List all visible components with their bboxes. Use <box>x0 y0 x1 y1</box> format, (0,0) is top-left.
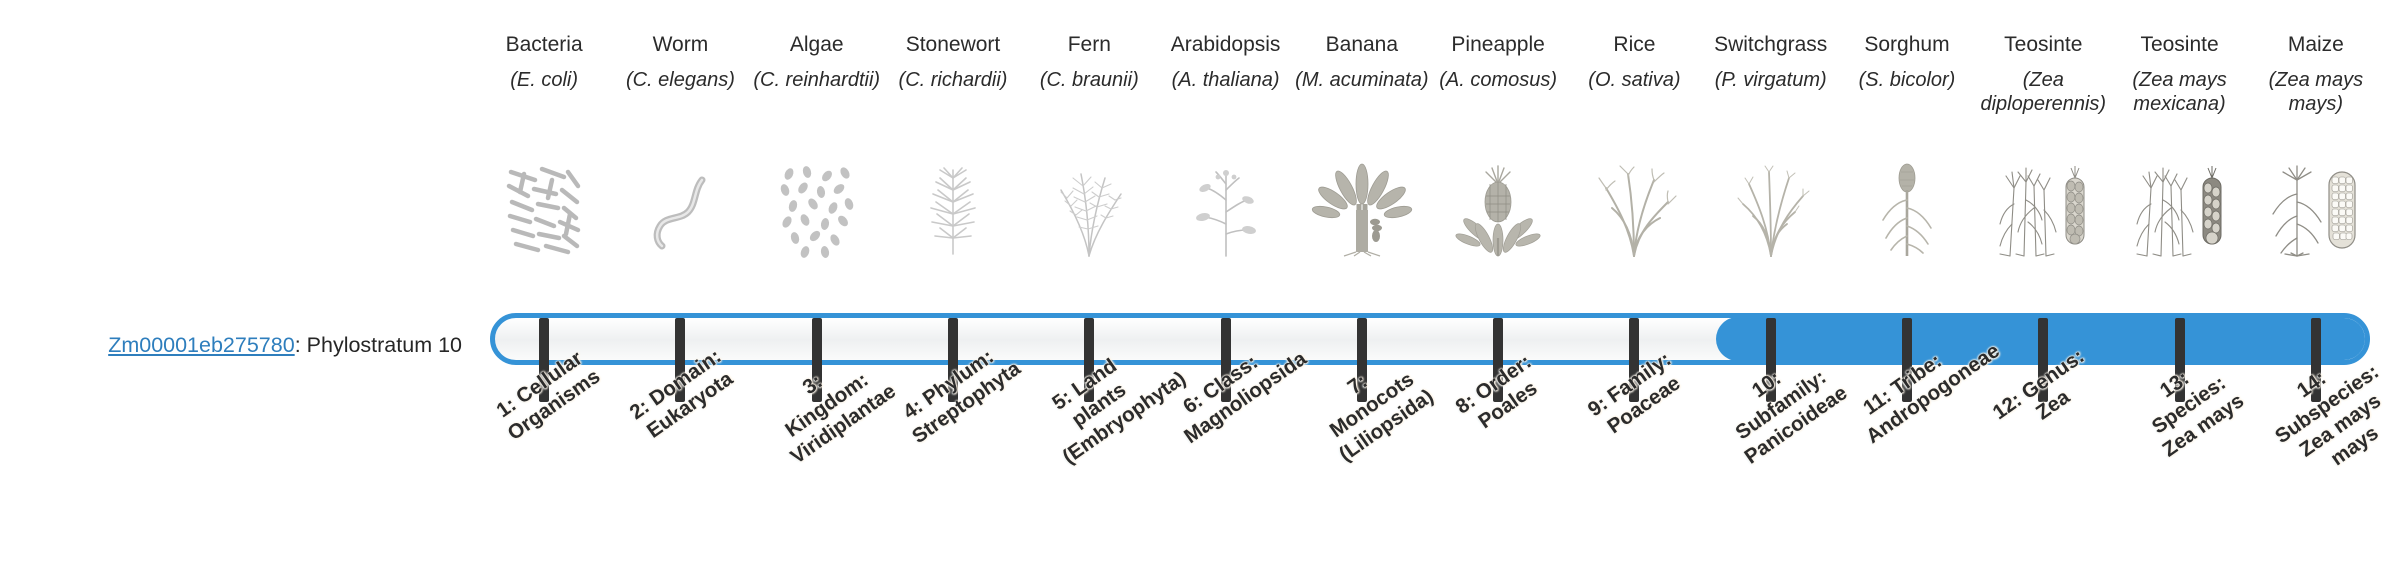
species-column-banana: Banana (M. acuminata) <box>1294 32 1430 116</box>
rank-cell-8: 8: Order: Poales <box>1430 404 1566 580</box>
species-common-name: Switchgrass <box>1714 32 1827 57</box>
species-scientific-name: (O. sativa) <box>1588 68 1680 92</box>
species-common-name: Bacteria <box>506 32 583 57</box>
species-column-switchgrass: Switchgrass (P. virgatum) <box>1703 32 1839 116</box>
rank-text: Subspecies: Zea mays mays <box>2271 360 2385 470</box>
fern-frond-illustration <box>1021 160 1157 256</box>
species-column-maize: Maize (Zea mays mays) <box>2248 32 2384 116</box>
species-common-name: Fern <box>1068 32 1111 57</box>
rank-cell-7: 7: Monocots (Liliopsida) <box>1294 404 1430 580</box>
rice-grass-illustration <box>1566 160 1702 256</box>
species-column-arabidopsis: Arabidopsis (A. thaliana) <box>1157 32 1293 116</box>
rank-cell-2: 2: Domain: Eukaryota <box>612 404 748 580</box>
species-scientific-name: (A. thaliana) <box>1172 68 1280 92</box>
rank-cell-1: 1: Cellular Organisms <box>476 404 612 580</box>
species-column-stonewort: Stonewort (C. richardii) <box>885 32 1021 116</box>
pineapple-plant-illustration <box>1430 160 1566 256</box>
rank-cell-13: 13: Species: Zea mays <box>2111 404 2247 580</box>
species-column-teosinte-diploperennis: Teosinte (Zea diploperennis) <box>1975 32 2111 116</box>
phylostratigraphy-figure: Zm00001eb275780: Phylostratum 10 Bacteri… <box>0 0 2400 580</box>
species-scientific-name: (S. bicolor) <box>1859 68 1956 92</box>
species-scientific-name: (Zea mays mays) <box>2249 68 2383 116</box>
species-scientific-name: (C. braunii) <box>1040 68 1139 92</box>
maize-plant-and-cob-illustration <box>2248 160 2384 256</box>
species-common-name: Arabidopsis <box>1171 32 1281 57</box>
species-common-name: Sorghum <box>1864 32 1949 57</box>
species-column-teosinte-mexicana: Teosinte (Zea mays mexicana) <box>2111 32 2247 116</box>
species-column-bacteria: Bacteria (E. coli) <box>476 32 612 116</box>
species-column-algae: Algae (C. reinhardtii) <box>749 32 885 116</box>
taxonomy-rank-row: 1: Cellular Organisms 2: Domain: Eukaryo… <box>476 404 2384 580</box>
rank-cell-10: 10: Subfamily: Panicoideae <box>1703 404 1839 580</box>
rank-cell-5: 5: Land plants (Embryophyta) <box>1021 404 1157 580</box>
sorghum-illustration <box>1839 160 1975 256</box>
species-common-name: Teosinte <box>2140 32 2218 57</box>
rank-cell-6: 6: Class: Magnoliopsida <box>1157 404 1293 580</box>
stonewort-alga-illustration <box>885 160 1021 256</box>
species-scientific-name: (M. acuminata) <box>1295 68 1428 92</box>
species-scientific-name: (C. richardii) <box>899 68 1008 92</box>
arabidopsis-plant-illustration <box>1157 160 1293 256</box>
species-scientific-name: (P. virgatum) <box>1715 68 1827 92</box>
species-common-name: Teosinte <box>2004 32 2082 57</box>
species-scientific-name: (C. elegans) <box>626 68 735 92</box>
species-column-fern: Fern (C. braunii) <box>1021 32 1157 116</box>
bacteria-rods-illustration <box>476 160 612 256</box>
gene-label-separator: : <box>295 333 307 357</box>
species-scientific-name: (Zea diploperennis) <box>1976 68 2110 116</box>
species-scientific-name: (E. coli) <box>510 68 578 92</box>
rank-cell-9: 9: Family: Poaceae <box>1566 404 1702 580</box>
species-scientific-name: (Zea mays mexicana) <box>2112 68 2246 116</box>
nematode-worm-illustration <box>612 160 748 256</box>
species-common-name: Pineapple <box>1451 32 1544 57</box>
rank-cell-11: 11: Tribe: Andropogoneae <box>1839 404 1975 580</box>
species-header-row: Bacteria (E. coli) Worm (C. elegans) Alg… <box>476 32 2384 116</box>
species-common-name: Stonewort <box>906 32 1001 57</box>
phylostratum-value: Phylostratum 10 <box>307 333 462 357</box>
rank-text: Monocots (Liliopsida) <box>1325 368 1437 466</box>
phylostratum-track-area: Bacteria (E. coli) Worm (C. elegans) Alg… <box>476 0 2384 580</box>
rank-cell-12: 12: Genus: Zea <box>1975 404 2111 580</box>
species-column-worm: Worm (C. elegans) <box>612 32 748 116</box>
species-common-name: Banana <box>1326 32 1398 57</box>
species-illustration-row <box>476 160 2384 256</box>
rank-cell-14: 14: Subspecies: Zea mays mays <box>2248 404 2384 580</box>
species-common-name: Maize <box>2288 32 2344 57</box>
species-scientific-name: (C. reinhardtii) <box>753 68 880 92</box>
species-column-sorghum: Sorghum (S. bicolor) <box>1839 32 1975 116</box>
rank-cell-3: 3: Kingdom: Viridiplantae <box>749 404 885 580</box>
rank-text: Kingdom: Viridiplantae <box>781 368 900 469</box>
rank-number: 12: <box>1989 388 2026 424</box>
switchgrass-illustration <box>1703 160 1839 256</box>
species-common-name: Algae <box>790 32 844 57</box>
rank-cell-4: 4: Phylum: Streptophyta <box>885 404 1021 580</box>
teosinte-plant-and-ear-illustration <box>2111 160 2247 256</box>
algae-cells-illustration <box>749 160 885 256</box>
species-common-name: Worm <box>653 32 709 57</box>
species-column-pineapple: Pineapple (A. comosus) <box>1430 32 1566 116</box>
rank-text: Subfamily: Panicoideae <box>1731 365 1851 468</box>
banana-palm-illustration <box>1294 160 1430 256</box>
species-common-name: Rice <box>1613 32 1655 57</box>
species-column-rice: Rice (O. sativa) <box>1566 32 1702 116</box>
species-scientific-name: (A. comosus) <box>1439 68 1557 92</box>
gene-id-link[interactable]: Zm00001eb275780 <box>108 333 295 357</box>
gene-phylostratum-label: Zm00001eb275780: Phylostratum 10 <box>0 332 462 358</box>
teosinte-plant-and-ear-illustration <box>1975 160 2111 256</box>
